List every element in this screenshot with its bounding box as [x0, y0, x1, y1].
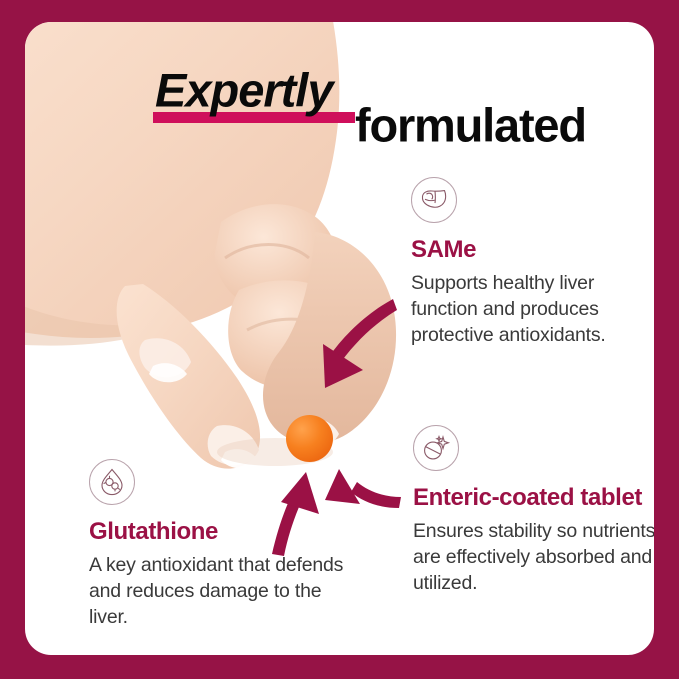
title-emphasis: Expertly [155, 67, 332, 114]
droplet-molecule-icon [89, 459, 135, 505]
orange-tablet [286, 415, 333, 462]
callout-title: Enteric-coated tablet [413, 485, 654, 512]
title-rest: formulated [355, 102, 586, 149]
callout-title: SAMe [411, 237, 654, 264]
content-card: Expertly formulated SAMe Supports health… [25, 22, 654, 655]
liver-icon-glyph [419, 187, 449, 213]
callout-same: SAMe Supports healthy liver function and… [411, 177, 654, 349]
droplet-molecule-icon-glyph [98, 467, 126, 497]
liver-icon [411, 177, 457, 223]
callout-body: A key antioxidant that defends and reduc… [89, 553, 349, 631]
page-title: Expertly formulated [153, 60, 623, 150]
callout-title: Glutathione [89, 519, 349, 546]
infographic-root: Expertly formulated SAMe Supports health… [0, 0, 679, 679]
callout-body: Ensures stability so nutrients are effec… [413, 519, 654, 597]
callout-glutathione: Glutathione A key antioxidant that defen… [89, 459, 349, 631]
callout-body: Supports healthy liver function and prod… [411, 271, 654, 349]
coated-tablet-icon-glyph [421, 434, 451, 462]
coated-tablet-icon [413, 425, 459, 471]
callout-enteric-coated: Enteric-coated tablet Ensures stability … [413, 425, 654, 597]
